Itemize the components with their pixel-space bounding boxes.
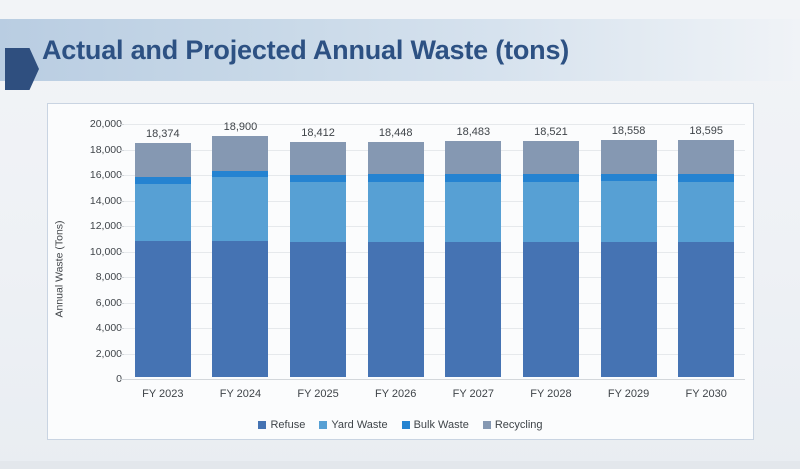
bar-total-label: 18,900 <box>224 121 258 133</box>
x-axis-label: FY 2029 <box>608 388 649 400</box>
bar-segment-refuse[interactable] <box>368 242 424 377</box>
bar-segment-recycling[interactable] <box>445 141 501 174</box>
x-axis-label: FY 2030 <box>685 388 726 400</box>
legend-item-recycling[interactable]: Recycling <box>483 419 543 431</box>
bar-segment-yard[interactable] <box>368 182 424 242</box>
legend-swatch-icon <box>483 421 491 429</box>
x-axis-label: FY 2023 <box>142 388 183 400</box>
legend-swatch-icon <box>258 421 266 429</box>
bar-segment-yard[interactable] <box>445 182 501 242</box>
x-axis-label: FY 2027 <box>453 388 494 400</box>
stacked-bar[interactable] <box>290 122 346 377</box>
bar-total-label: 18,595 <box>689 125 723 137</box>
bar-total-label: 18,558 <box>612 125 646 137</box>
bar-segment-refuse[interactable] <box>135 241 191 377</box>
y-axis-tick-14000: 14,000 <box>68 195 122 207</box>
bar-total-label: 18,521 <box>534 126 568 138</box>
bar-segment-refuse[interactable] <box>212 241 268 377</box>
y-axis-tick-2000: 2,000 <box>68 348 122 360</box>
bar-segment-recycling[interactable] <box>290 142 346 174</box>
bar-segment-refuse[interactable] <box>523 242 579 377</box>
stacked-bar[interactable] <box>601 122 657 377</box>
x-axis-label: FY 2028 <box>530 388 571 400</box>
bar-segment-bulk[interactable] <box>212 171 268 177</box>
y-axis-tick-16000: 16,000 <box>68 169 122 181</box>
y-axis-tick-6000: 6,000 <box>68 297 122 309</box>
bar-segment-yard[interactable] <box>678 182 734 242</box>
legend-label: Bulk Waste <box>414 419 469 431</box>
stacked-bar[interactable] <box>135 122 191 377</box>
bar-segment-yard[interactable] <box>290 182 346 242</box>
bar-segment-recycling[interactable] <box>523 141 579 174</box>
bar-slot: 18,412FY 2025 <box>279 104 357 439</box>
x-axis-label: FY 2025 <box>297 388 338 400</box>
stacked-bar[interactable] <box>523 122 579 377</box>
bar-segment-recycling[interactable] <box>135 143 191 177</box>
bar-slot: 18,900FY 2024 <box>202 104 280 439</box>
stacked-bar[interactable] <box>445 122 501 377</box>
y-axis-tick-4000: 4,000 <box>68 322 122 334</box>
stacked-bar[interactable] <box>678 122 734 377</box>
bar-segment-bulk[interactable] <box>678 174 734 182</box>
bar-segment-refuse[interactable] <box>290 242 346 377</box>
y-axis-tick-18000: 18,000 <box>68 144 122 156</box>
y-axis-tick-10000: 10,000 <box>68 246 122 258</box>
bar-total-label: 18,412 <box>301 127 335 139</box>
legend-item-bulk-waste[interactable]: Bulk Waste <box>402 419 469 431</box>
bar-segment-bulk[interactable] <box>135 177 191 184</box>
legend-swatch-icon <box>319 421 327 429</box>
y-axis-tick-12000: 12,000 <box>68 220 122 232</box>
bar-segment-yard[interactable] <box>212 177 268 241</box>
legend-label: Recycling <box>495 419 543 431</box>
slide-canvas: Actual and Projected Annual Waste (tons)… <box>0 0 800 469</box>
x-axis-label: FY 2026 <box>375 388 416 400</box>
chevron-accent-icon <box>5 48 39 90</box>
bar-segment-bulk[interactable] <box>290 175 346 183</box>
y-axis-tick-labels: 02,0004,0006,0008,00010,00012,00014,0001… <box>66 104 122 439</box>
bar-slot: 18,595FY 2030 <box>667 104 745 439</box>
legend-label: Yard Waste <box>331 419 387 431</box>
bar-total-label: 18,374 <box>146 128 180 140</box>
legend-item-yard-waste[interactable]: Yard Waste <box>319 419 387 431</box>
bar-slot: 18,558FY 2029 <box>590 104 668 439</box>
legend-swatch-icon <box>402 421 410 429</box>
bar-slot: 18,483FY 2027 <box>435 104 513 439</box>
y-axis-title-label: Annual Waste (Tons) <box>54 220 66 317</box>
bar-segment-yard[interactable] <box>601 181 657 241</box>
x-axis-label: FY 2024 <box>220 388 261 400</box>
bar-segment-recycling[interactable] <box>212 136 268 171</box>
bar-segment-recycling[interactable] <box>368 142 424 175</box>
bar-total-label: 18,483 <box>456 126 490 138</box>
page-title: Actual and Projected Annual Waste (tons) <box>42 28 569 72</box>
chart-legend: RefuseYard WasteBulk WasteRecycling <box>48 417 753 433</box>
bar-segment-refuse[interactable] <box>678 242 734 377</box>
stacked-bar[interactable] <box>212 122 268 377</box>
bar-segment-yard[interactable] <box>523 182 579 242</box>
bar-segment-yard[interactable] <box>135 184 191 241</box>
bar-segment-bulk[interactable] <box>601 174 657 182</box>
y-axis-tick-0: 0 <box>68 373 122 385</box>
slide-bottom-strip <box>0 461 800 469</box>
bar-segment-recycling[interactable] <box>601 140 657 173</box>
bar-slot: 18,374FY 2023 <box>124 104 202 439</box>
stacked-bar[interactable] <box>368 122 424 377</box>
bar-segment-bulk[interactable] <box>523 174 579 182</box>
chart-container: Annual Waste (Tons) 02,0004,0006,0008,00… <box>47 103 754 440</box>
bar-slot: 18,448FY 2026 <box>357 104 435 439</box>
bar-segment-recycling[interactable] <box>678 140 734 174</box>
plot-area: Annual Waste (Tons) 02,0004,0006,0008,00… <box>48 104 753 439</box>
bar-slot: 18,521FY 2028 <box>512 104 590 439</box>
y-axis-tick-8000: 8,000 <box>68 271 122 283</box>
bar-segment-refuse[interactable] <box>601 242 657 377</box>
bar-segment-bulk[interactable] <box>445 174 501 182</box>
legend-label: Refuse <box>270 419 305 431</box>
bar-segment-bulk[interactable] <box>368 174 424 182</box>
legend-item-refuse[interactable]: Refuse <box>258 419 305 431</box>
bar-total-label: 18,448 <box>379 127 413 139</box>
bar-segment-refuse[interactable] <box>445 242 501 377</box>
y-axis-tick-20000: 20,000 <box>68 118 122 130</box>
bar-group: 18,374FY 202318,900FY 202418,412FY 20251… <box>124 104 745 439</box>
